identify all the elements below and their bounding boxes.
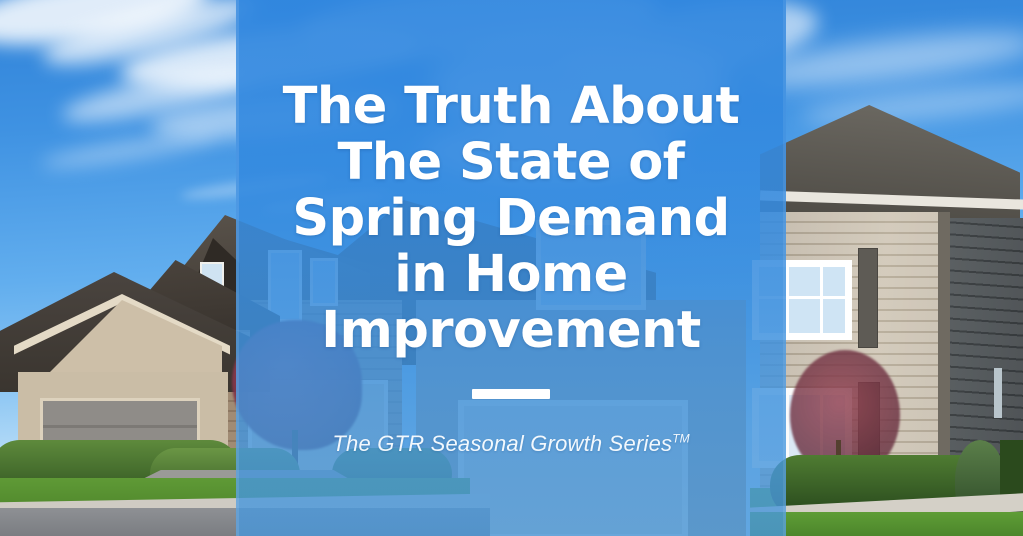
right-house-narrow-window — [994, 368, 1002, 418]
trademark-symbol: TM — [672, 432, 689, 446]
garage-panel-line — [43, 425, 197, 428]
series-subtitle-text: The GTR Seasonal Growth Series — [332, 431, 672, 456]
page-title: The Truth About The State of Spring Dema… — [276, 79, 746, 359]
blue-overlay-panel: The Truth About The State of Spring Dema… — [236, 0, 786, 536]
overlay-left-edge — [236, 0, 239, 536]
window-mullion — [820, 260, 823, 340]
overlay-right-edge — [783, 0, 786, 536]
title-divider — [472, 389, 550, 399]
window-shutter — [858, 248, 878, 348]
series-subtitle: The GTR Seasonal Growth SeriesTM — [332, 431, 689, 457]
overlay-content: The Truth About The State of Spring Dema… — [236, 0, 786, 536]
lawn — [750, 512, 1023, 536]
hero-banner: The Truth About The State of Spring Dema… — [0, 0, 1023, 536]
window-mullion — [786, 260, 789, 340]
